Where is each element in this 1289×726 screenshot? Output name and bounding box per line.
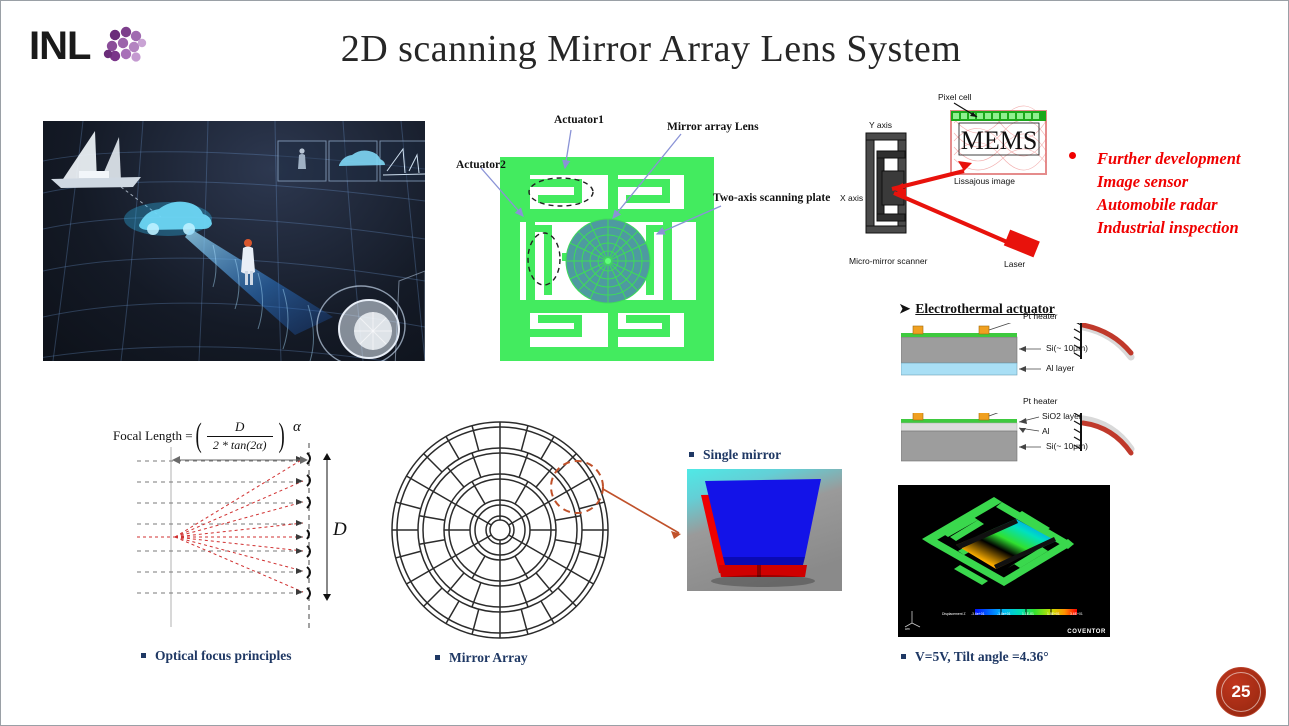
colorbar-tick-1: -1.8e+01 [997, 612, 1010, 616]
caption-mirror-array: Mirror Array [435, 650, 528, 666]
colorbar-tick-0: -3.6e+01 [971, 612, 984, 616]
lidar-scene-image [43, 121, 425, 361]
further-development-item-3: Industrial inspection [1069, 216, 1284, 239]
label-laser: Laser [1004, 259, 1025, 269]
square-bullet-icon [689, 452, 694, 457]
label-actuator1: Actuator1 [554, 114, 604, 126]
mirror-array-diagram [389, 419, 611, 641]
square-bullet-icon [141, 653, 146, 658]
label-x-axis: X axis [840, 193, 863, 203]
colorbar-tick-3: 1.8E+01 [1047, 612, 1060, 616]
label-pixel-cell: Pixel cell [938, 92, 972, 102]
caption-tilt-angle-text: V=5V, Tilt angle =4.36° [915, 649, 1049, 664]
square-bullet-icon [901, 654, 906, 659]
focal-length-measure-arrow [166, 453, 316, 467]
optical-focus-diagram: D [131, 441, 361, 631]
actuator-stack-top: Pt heater Si(~ 10μm) Al layer [901, 323, 1141, 381]
single-mirror-image [687, 469, 842, 591]
square-bullet-icon [435, 655, 440, 660]
caption-optical-focus: Optical focus principles [141, 648, 292, 664]
label-si-top: Si(~ 10μm) [1046, 343, 1088, 353]
caption-tilt-angle: V=5V, Tilt angle =4.36° [901, 649, 1049, 665]
mems-device-diagram [498, 153, 718, 365]
label-sio2: SiO2 layer [1042, 411, 1082, 421]
label-pt-heater-top: Pt heater [1023, 311, 1058, 321]
label-al: Al [1042, 426, 1050, 436]
actuator-stack-bottom: Pt heater SiO2 layer Al Si(~ 10μm) [901, 413, 1141, 473]
colorbar-tick-4: 3.6E+01 [1070, 612, 1083, 616]
svg-text:MEMS: MEMS [961, 126, 1038, 155]
single-mirror-connector-arrow [601, 481, 696, 551]
micro-mirror-scanner-diagram: MEMS Pixel cel [846, 93, 1076, 288]
colorbar-title: Displacement Z [942, 612, 966, 616]
label-y-axis: Y axis [869, 120, 892, 130]
further-development-item-2: Automobile radar [1069, 193, 1284, 216]
caption-optical-focus-text: Optical focus principles [155, 648, 292, 663]
further-development-item-0: Further development [1069, 147, 1284, 170]
coventor-vendor-label: COVENTOR [1067, 629, 1106, 635]
label-aperture-D: D [333, 519, 347, 541]
label-micro-mirror-scanner: Micro-mirror scanner [849, 256, 927, 266]
label-al-layer-top: Al layer [1046, 363, 1074, 373]
label-actuator2: Actuator2 [456, 159, 506, 171]
page-title: 2D scanning Mirror Array Lens System [181, 27, 1121, 71]
slide-canvas: INL 2D scanning Mirror Array Lens System [0, 0, 1289, 726]
page-number: 25 [1232, 682, 1251, 702]
further-development-list: Further development Image sensor Automob… [1069, 147, 1284, 239]
svg-text:INL: INL [29, 24, 91, 68]
label-two-axis-plate: Two-axis scanning plate [713, 192, 830, 204]
chevron-right-icon: ➤ [899, 301, 910, 317]
inl-logo: INL [29, 21, 159, 73]
fraction-numerator: D [229, 419, 250, 436]
colorbar-tick-2: 1.1E-01 [1022, 612, 1034, 616]
label-alpha: α [293, 419, 301, 436]
colorbar-unit: um [905, 627, 910, 631]
further-development-item-1: Image sensor [1069, 170, 1284, 193]
page-number-badge: 25 [1216, 667, 1266, 717]
label-pt-heater-bottom: Pt heater [1023, 396, 1058, 406]
caption-single-mirror: Single mirror [689, 447, 781, 463]
caption-single-mirror-text: Single mirror [703, 447, 781, 462]
caption-mirror-array-text: Mirror Array [449, 650, 528, 665]
label-lissajous: Lissajous image [954, 176, 1015, 186]
label-mirror-array-lens: Mirror array Lens [667, 121, 759, 133]
coventor-simulation-image: Displacement Z -3.6e+01 -1.8e+01 1.1E-01… [898, 485, 1110, 637]
bullet-dot-icon [1069, 152, 1076, 159]
label-si-bottom: Si(~ 10μm) [1046, 441, 1088, 451]
